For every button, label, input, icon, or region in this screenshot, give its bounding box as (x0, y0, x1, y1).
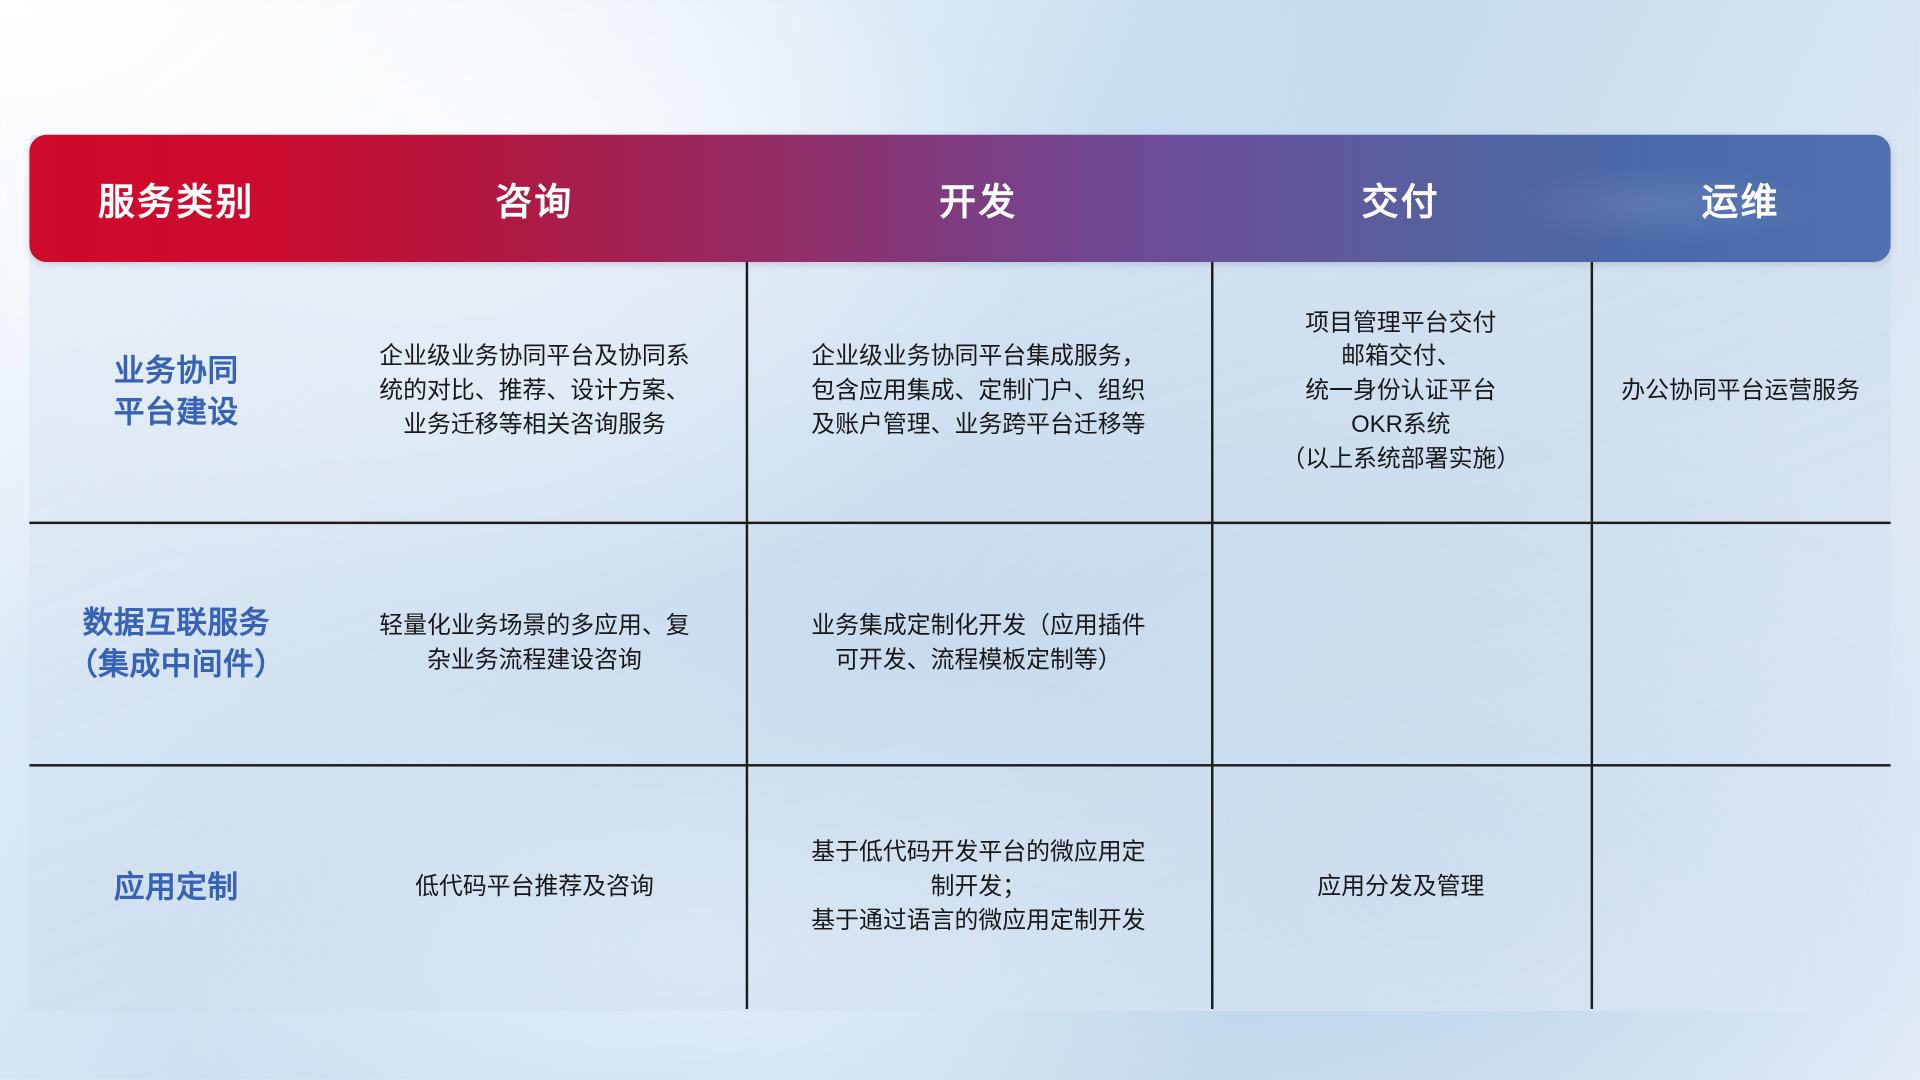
cell-consulting: 企业级业务协同平台及协同系 统的对比、推荐、设计方案、 业务迁移等相关咨询服务 (323, 262, 745, 522)
column-header-delivery: 交付 (1211, 135, 1591, 262)
column-header-category: 服务类别 (29, 135, 323, 262)
cell-consulting: 低代码平台推荐及咨询 (323, 767, 745, 1009)
table-header-row: 服务类别 咨询 开发 交付 运维 (29, 135, 1890, 262)
column-header-consulting: 咨询 (323, 135, 745, 262)
row-label-data-integration: 数据互联服务 （集成中间件） (29, 524, 323, 764)
column-header-operations: 运维 (1591, 135, 1891, 262)
slide-canvas: 服务类别 咨询 开发 交付 运维 业务协同 平台建设 企业级业务协同平台及协同系… (0, 0, 1920, 1080)
cell-operations (1591, 524, 1891, 764)
row-label-application-customization: 应用定制 (29, 767, 323, 1009)
cell-development: 企业级业务协同平台集成服务， 包含应用集成、定制门户、组织 及账户管理、业务跨平… (746, 262, 1211, 522)
table-row: 业务协同 平台建设 企业级业务协同平台及协同系 统的对比、推荐、设计方案、 业务… (29, 262, 1890, 522)
cell-operations (1591, 767, 1891, 1009)
cell-delivery: 应用分发及管理 (1211, 767, 1591, 1009)
cell-consulting: 轻量化业务场景的多应用、复 杂业务流程建设咨询 (323, 524, 745, 764)
cell-development: 业务集成定制化开发（应用插件 可开发、流程模板定制等） (746, 524, 1211, 764)
cell-delivery: 项目管理平台交付 邮箱交付、 统一身份认证平台 OKR系统 （以上系统部署实施） (1211, 262, 1591, 522)
service-matrix-table: 服务类别 咨询 开发 交付 运维 业务协同 平台建设 企业级业务协同平台及协同系… (29, 135, 1890, 1012)
column-header-development: 开发 (746, 135, 1211, 262)
cell-delivery (1211, 524, 1591, 764)
row-label-business-collaboration: 业务协同 平台建设 (29, 262, 323, 522)
cell-development: 基于低代码开发平台的微应用定 制开发； 基于通过语言的微应用定制开发 (746, 767, 1211, 1009)
cell-operations: 办公协同平台运营服务 (1591, 262, 1891, 522)
table-row: 应用定制 低代码平台推荐及咨询 基于低代码开发平台的微应用定 制开发； 基于通过… (29, 764, 1890, 1009)
table-row: 数据互联服务 （集成中间件） 轻量化业务场景的多应用、复 杂业务流程建设咨询 业… (29, 522, 1890, 764)
table-body: 业务协同 平台建设 企业级业务协同平台及协同系 统的对比、推荐、设计方案、 业务… (29, 262, 1890, 1011)
